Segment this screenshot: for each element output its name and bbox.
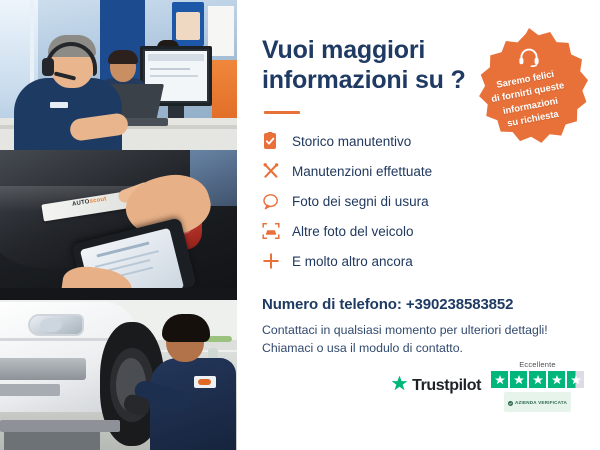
rating-star-half [567, 371, 584, 388]
rating-star [548, 371, 565, 388]
list-item[interactable]: Foto dei segni di usura [262, 188, 578, 214]
speech-bubble-icon [262, 191, 284, 211]
tools-cross-icon [262, 161, 284, 181]
photo-wheel-service [0, 300, 237, 450]
list-item[interactable]: Manutenzioni effettuate [262, 158, 578, 184]
lower-grille-shape [0, 384, 60, 396]
photo-call-center [0, 0, 237, 150]
rating-star [529, 371, 546, 388]
trustpilot-logo: Trustpilot [391, 375, 481, 397]
contact-subtext: Contattaci in qualsiasi momento per ulte… [262, 321, 578, 358]
lift-base-shape [4, 432, 100, 450]
page-title: Vuoi maggiori informazioni su ? [262, 36, 477, 95]
list-item[interactable]: E molto altro ancora [262, 248, 578, 274]
headset-icon [518, 47, 540, 72]
promo-badge: Saremo felici di fornirti queste informa… [470, 28, 588, 146]
list-item-label: Foto dei segni di usura [292, 194, 429, 209]
monitor-row-shape [150, 68, 190, 70]
rating-star [510, 371, 527, 388]
verified-text: AZIENDA VERIFICATA [515, 400, 567, 405]
promo-card: AUTOscout [0, 0, 600, 450]
list-item-label: Manutenzioni effettuate [292, 164, 432, 179]
trustpilot-star-icon [391, 375, 408, 397]
photo-vehicle-inspection: AUTOscout [0, 150, 237, 300]
star-rating [491, 371, 584, 388]
phone-label: Numero di telefono: [262, 296, 402, 313]
subtext-line-1: Contattaci in qualsiasi momento per ulte… [262, 321, 578, 339]
phone-number[interactable]: +390238583852 [406, 296, 514, 313]
poster-inner-shape [176, 12, 200, 40]
list-item-label: E molto altro ancora [292, 254, 413, 269]
subtext-line-2: Chiamaci o usa il modulo di contatto. [262, 339, 578, 357]
title-divider [264, 111, 300, 114]
verified-badge: AZIENDA VERIFICATA [504, 392, 571, 412]
verified-check-icon [508, 393, 513, 411]
lift-arm-shape [0, 420, 120, 432]
phone-line[interactable]: Numero di telefono: +390238583852 [262, 296, 578, 313]
rating-star [491, 371, 508, 388]
list-item-label: Altre foto del veicolo [292, 224, 414, 239]
content-panel: Vuoi maggiori informazioni su ? Storico … [237, 0, 600, 450]
grille-shape [0, 358, 86, 380]
ground-shadow-shape [0, 288, 237, 300]
trustpilot-widget[interactable]: Trustpilot Eccellente [391, 360, 584, 412]
list-item[interactable]: Altre foto del veicolo [262, 218, 578, 244]
plus-icon [262, 251, 284, 271]
monitor-row2-shape [150, 75, 198, 77]
trustpilot-name: Trustpilot [412, 377, 481, 395]
photo-column: AUTOscout [0, 0, 237, 450]
trustpilot-rating: Eccellente [491, 360, 584, 412]
monitor-toolbar-shape [148, 54, 204, 61]
list-item-label: Storico manutentivo [292, 134, 411, 149]
rating-word: Eccellente [519, 360, 556, 369]
monitor-stand-shape [168, 106, 184, 118]
feature-list: Storico manutentivo Manutenzioni effettu… [262, 128, 578, 274]
headlight-inner-shape [40, 318, 62, 332]
hood-line-shape [0, 338, 120, 341]
clipboard-check-icon [262, 131, 284, 151]
mechanic-figure [150, 314, 236, 450]
car-frame-icon [262, 221, 284, 241]
foreground-operator [14, 38, 122, 150]
